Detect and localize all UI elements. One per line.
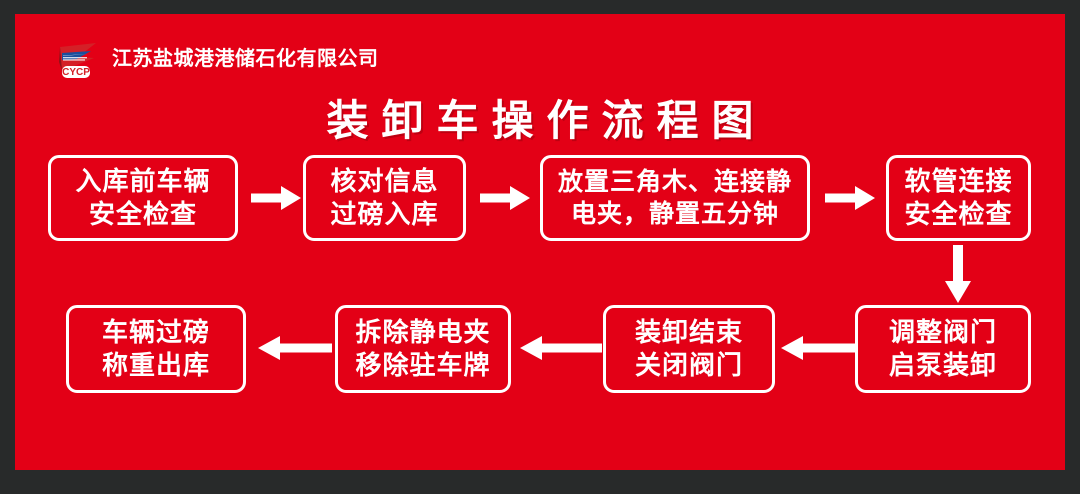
arrow-down-icon-1 bbox=[943, 245, 973, 303]
arrow-left-icon-2 bbox=[520, 335, 602, 361]
flow-step-1-line1: 入库前车辆 bbox=[75, 165, 210, 198]
arrow-right-icon-2 bbox=[480, 185, 530, 211]
flow-step-3-line1: 放置三角木、连接静 bbox=[558, 166, 792, 198]
flow-step-4-line1: 软管连接 bbox=[904, 165, 1012, 198]
arrow-left-icon-3 bbox=[258, 335, 332, 361]
flow-step-4-line2: 安全检查 bbox=[904, 198, 1012, 231]
flow-step-1-line2: 安全检查 bbox=[89, 198, 197, 231]
cycp-logo-icon: CYCP bbox=[50, 38, 102, 80]
svg-text:CYCP: CYCP bbox=[62, 67, 90, 78]
flow-step-7: 拆除静电夹 移除驻车牌 bbox=[335, 305, 511, 393]
flow-step-6-line2: 关闭阀门 bbox=[635, 349, 743, 382]
flow-step-8-line2: 称重出库 bbox=[102, 349, 210, 382]
arrow-right-icon-3 bbox=[825, 185, 875, 211]
flow-step-2-line2: 过磅入库 bbox=[330, 198, 438, 231]
flow-step-6: 装卸结束 关闭阀门 bbox=[603, 305, 775, 393]
flow-step-8-line1: 车辆过磅 bbox=[102, 316, 210, 349]
arrow-left-icon-1 bbox=[781, 335, 856, 361]
flow-step-3-line2: 电夹，静置五分钟 bbox=[571, 198, 779, 230]
flow-step-5-line1: 调整阀门 bbox=[889, 316, 997, 349]
flow-step-5: 调整阀门 启泵装卸 bbox=[855, 305, 1031, 393]
page-title: 装卸车操作流程图 bbox=[15, 98, 1065, 144]
flow-step-6-line1: 装卸结束 bbox=[635, 316, 743, 349]
company-name: 江苏盐城港港储石化有限公司 bbox=[112, 49, 379, 69]
poster-header: CYCP 江苏盐城港港储石化有限公司 bbox=[50, 38, 379, 80]
flow-step-3: 放置三角木、连接静 电夹，静置五分钟 bbox=[540, 155, 810, 241]
flow-step-2-line1: 核对信息 bbox=[330, 165, 438, 198]
flow-step-7-line1: 拆除静电夹 bbox=[355, 316, 490, 349]
flow-step-4: 软管连接 安全检查 bbox=[886, 155, 1031, 241]
flow-step-5-line2: 启泵装卸 bbox=[889, 349, 997, 382]
flow-step-8: 车辆过磅 称重出库 bbox=[66, 305, 246, 393]
flow-step-7-line2: 移除驻车牌 bbox=[355, 349, 490, 382]
arrow-right-icon-1 bbox=[251, 185, 301, 211]
flow-step-1: 入库前车辆 安全检查 bbox=[48, 155, 238, 241]
poster-canvas: CYCP 江苏盐城港港储石化有限公司 装卸车操作流程图 入库前车辆 安全检查 核… bbox=[15, 14, 1065, 470]
flow-step-2: 核对信息 过磅入库 bbox=[303, 155, 466, 241]
